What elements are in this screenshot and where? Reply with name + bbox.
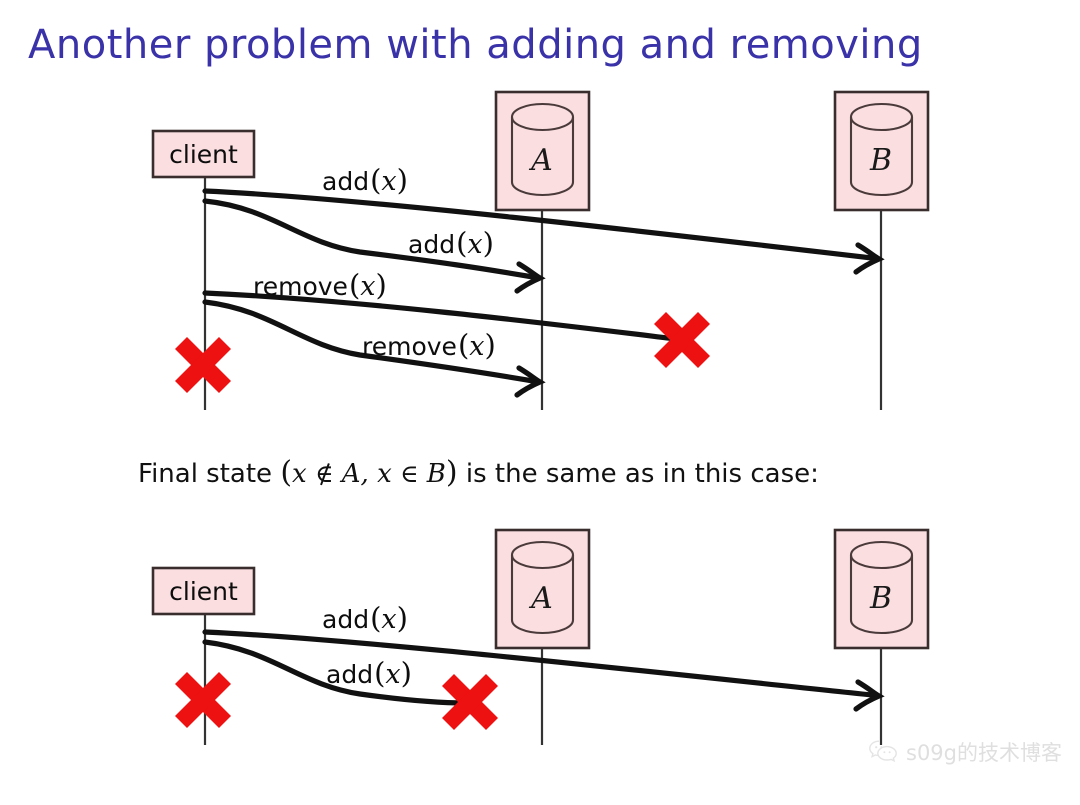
message-label-remove-a-top: remove(x) bbox=[362, 328, 496, 362]
client-label-top: client bbox=[169, 140, 238, 169]
node-a-top[interactable]: A bbox=[496, 92, 589, 210]
message-label-add-a-bottom: add(x) bbox=[326, 656, 412, 690]
sequence-diagram-top: client A B add(x) add(x) bbox=[0, 0, 1080, 805]
msg-fn-remove-a-top: remove bbox=[362, 332, 457, 361]
node-b-bottom[interactable]: B bbox=[835, 530, 928, 648]
b-label-bottom: B bbox=[869, 581, 892, 616]
node-client-bottom[interactable]: client bbox=[153, 568, 254, 614]
caption-var2: x bbox=[377, 459, 392, 489]
msg-arg-add-a-bottom: x bbox=[385, 659, 400, 690]
client-label-bottom: client bbox=[169, 577, 238, 606]
watermark-text: s09g的技术博客 bbox=[906, 737, 1062, 767]
node-a-bottom[interactable]: A bbox=[496, 530, 589, 648]
caption-prefix: Final state bbox=[138, 459, 280, 489]
caption-op2: ∈ bbox=[400, 459, 419, 488]
msg-arg-add-b-top: x bbox=[381, 166, 396, 197]
message-label-add-a-top: add(x) bbox=[408, 226, 494, 260]
x-mark-client-crash-top bbox=[181, 343, 225, 387]
final-state-caption: Final state (x ∉ A, x ∈ B) is the same a… bbox=[138, 455, 819, 490]
caption-comma: , bbox=[361, 459, 369, 489]
message-label-add-b-top: add(x) bbox=[322, 163, 408, 197]
caption-var1: x bbox=[292, 459, 307, 489]
node-b-top[interactable]: B bbox=[835, 92, 928, 210]
caption-op1: ∉ bbox=[315, 459, 334, 488]
caption-set2: B bbox=[427, 459, 446, 489]
slide-canvas: Another problem with adding and removing bbox=[0, 0, 1080, 805]
msg-arg-remove-b-top: x bbox=[360, 271, 375, 302]
caption-open-paren: ( bbox=[280, 455, 292, 490]
x-mark-client-crash-bottom bbox=[181, 678, 225, 722]
msg-fn-add-a-bottom: add bbox=[326, 660, 373, 689]
msg-fn-add-b-top: add bbox=[322, 167, 369, 196]
caption-set1: A bbox=[342, 459, 361, 489]
msg-arg-add-b-bottom: x bbox=[381, 604, 396, 635]
caption-suffix: is the same as in this case: bbox=[458, 459, 819, 489]
watermark: s09g的技术博客 bbox=[868, 737, 1062, 767]
msg-fn-remove-b-top: remove bbox=[253, 272, 348, 301]
msg-arg-remove-a-top: x bbox=[469, 331, 484, 362]
b-label-top: B bbox=[869, 143, 892, 178]
a-label-bottom: A bbox=[528, 581, 553, 616]
message-label-add-b-bottom: add(x) bbox=[322, 601, 408, 635]
caption-close-paren: ) bbox=[446, 455, 458, 490]
message-label-remove-b-top: remove(x) bbox=[253, 268, 387, 302]
wechat-icon bbox=[868, 739, 898, 765]
a-label-top: A bbox=[528, 143, 553, 178]
msg-fn-add-b-bottom: add bbox=[322, 605, 369, 634]
msg-arg-add-a-top: x bbox=[467, 229, 482, 260]
node-client-top[interactable]: client bbox=[153, 131, 254, 177]
msg-fn-add-a-top: add bbox=[408, 230, 455, 259]
